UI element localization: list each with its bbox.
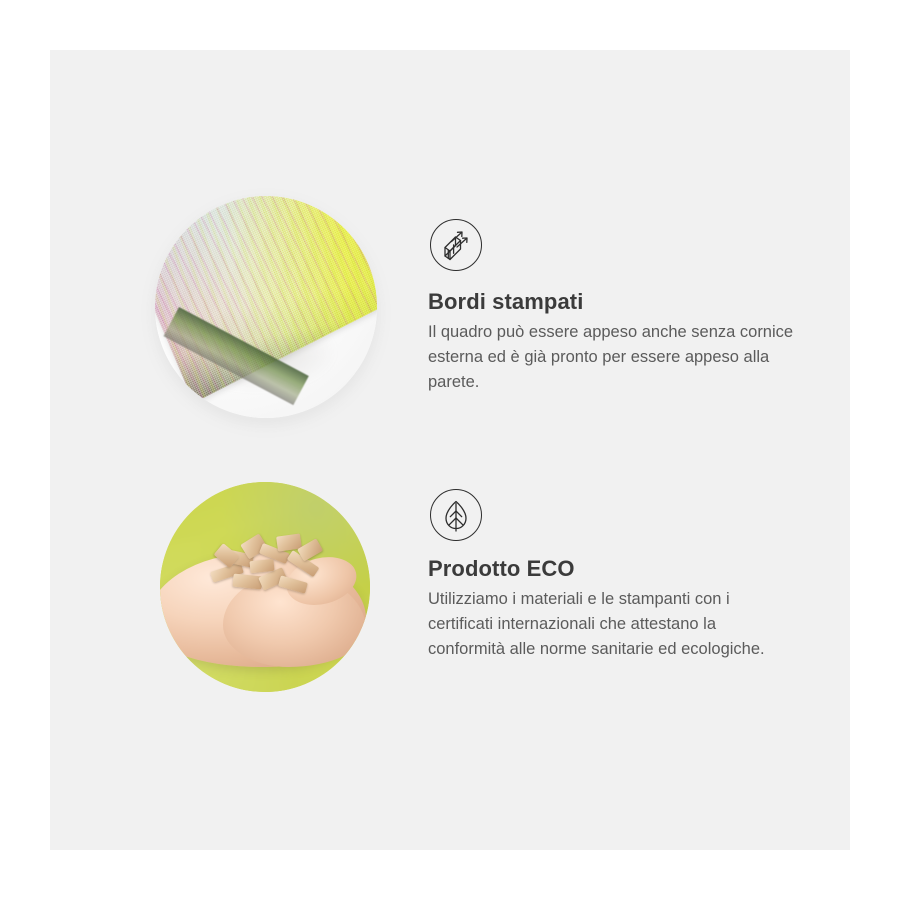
printed-edges-icon <box>430 219 482 271</box>
leaf-icon <box>430 489 482 541</box>
feature-printed-edges: Bordi stampati Il quadro può essere appe… <box>0 0 900 900</box>
feature-description: Utilizziamo i materiali e le stampanti c… <box>428 587 796 662</box>
feature-heading: Bordi stampati <box>428 289 583 315</box>
feature-description: Il quadro può essere appeso anche senza … <box>428 320 796 395</box>
product-info-graphic: Bordi stampati Il quadro può essere appe… <box>0 0 900 900</box>
wood-chips-pile <box>206 532 328 608</box>
canvas-corner-photo <box>155 196 377 418</box>
feature-heading: Prodotto ECO <box>428 556 575 582</box>
hands-wood-chips-photo <box>160 482 370 692</box>
